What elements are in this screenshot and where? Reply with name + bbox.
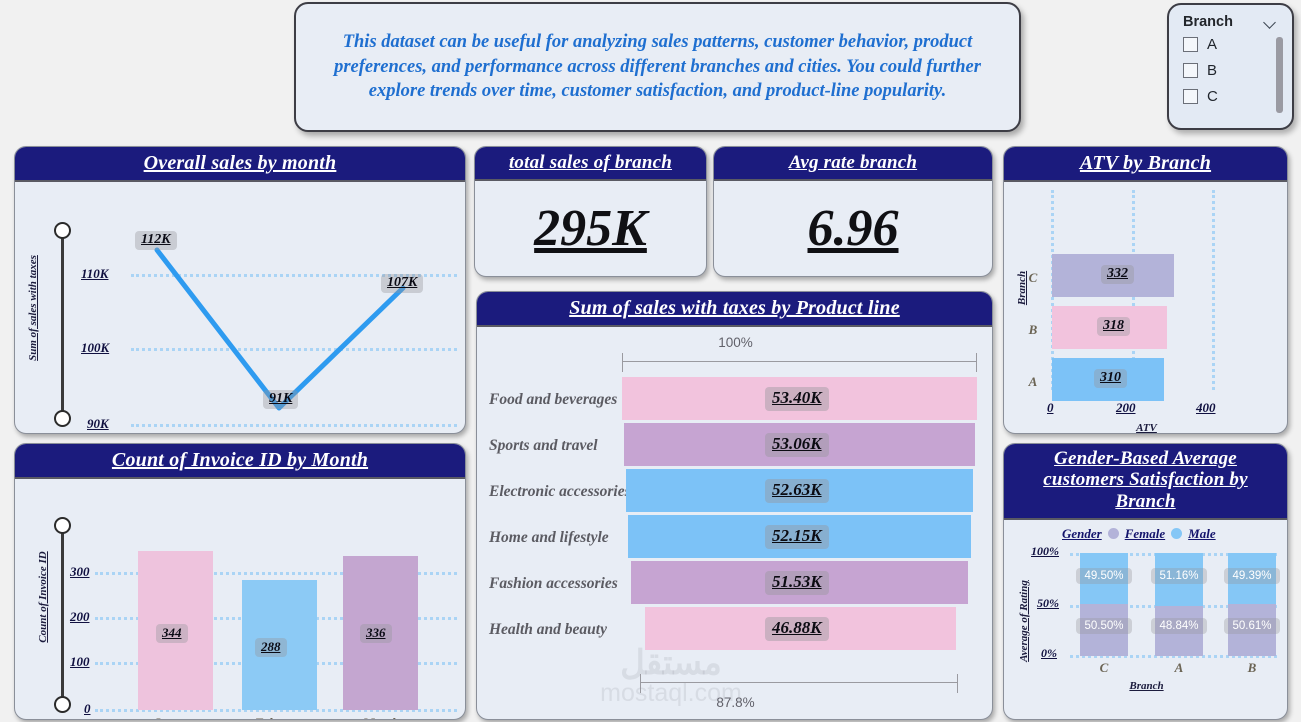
y-tick-0: 0% [1041, 646, 1057, 661]
gender-label-c-male: 49.50% [1076, 568, 1132, 584]
card-title: total sales of branch [475, 147, 706, 181]
vgridline [1212, 190, 1215, 390]
x-tick-march: March [321, 715, 441, 720]
y-tick-0: 0 [84, 701, 91, 717]
product-line-value-home: 52.15K [765, 525, 829, 549]
data-label-c: 332 [1101, 265, 1134, 284]
product-line-label-electronic: Electronic accessories [489, 483, 631, 501]
branch-option-label: A [1207, 36, 1217, 53]
x-axis-title: Branch [1004, 680, 1288, 692]
gender-legend: Gender Female Male [1062, 526, 1216, 542]
branch-slicer[interactable]: Branch A B C [1167, 3, 1294, 130]
y-tick-100: 100 [70, 654, 90, 670]
data-label-b: 318 [1097, 317, 1130, 336]
x-tick-february: February [220, 432, 340, 434]
x-tick-400: 400 [1196, 400, 1216, 416]
y-tick-200: 200 [70, 609, 90, 625]
x-tick-a: A [1159, 660, 1199, 676]
y-axis-title: Branch [1016, 258, 1028, 318]
data-label-january: 344 [156, 624, 188, 643]
branch-option-a[interactable]: A [1183, 36, 1282, 53]
description-banner-text: This dataset can be useful for analyzing… [314, 30, 1001, 104]
data-label-a: 310 [1094, 369, 1127, 388]
dashboard-root: This dataset can be useful for analyzing… [0, 0, 1301, 722]
checkbox-icon[interactable] [1183, 37, 1198, 52]
top-bracket [622, 361, 977, 362]
branch-slicer-header: Branch [1183, 14, 1282, 30]
x-axis-title: ATV [1004, 422, 1288, 434]
branch-slicer-title: Branch [1183, 14, 1233, 30]
legend-label-male[interactable]: Male [1188, 526, 1215, 542]
overall-sales-chart: Sum of sales with taxes 110K 100K 90K 11… [15, 182, 465, 432]
product-line-value-health: 46.88K [765, 617, 829, 641]
slider-track[interactable] [61, 525, 64, 705]
card-atv-by-branch: ATV by Branch Branch C B A 332 318 310 0… [1003, 146, 1288, 434]
data-label-february: 288 [255, 638, 287, 657]
x-tick-c: C [1084, 660, 1124, 676]
y-tick-50: 50% [1037, 596, 1059, 611]
y-tick-a: A [1022, 374, 1044, 390]
data-label-january: 112K [135, 231, 177, 250]
atv-chart: Branch C B A 332 318 310 0 200 400 ATV [1004, 182, 1287, 432]
product-line-label-fashion: Fashion accessories [489, 575, 618, 593]
bottom-bracket-label: 87.8% [477, 695, 993, 710]
checkbox-icon[interactable] [1183, 63, 1198, 78]
branch-option-label: C [1207, 88, 1218, 105]
bottom-bracket [640, 682, 958, 683]
branch-option-label: B [1207, 62, 1217, 79]
gender-label-b-female: 50.61% [1224, 618, 1280, 634]
gender-label-a-male: 51.16% [1151, 568, 1207, 584]
card-total-sales-of-branch: total sales of branch 295K [474, 146, 707, 277]
legend-swatch-female [1108, 528, 1119, 539]
chevron-down-icon[interactable] [1264, 18, 1278, 27]
x-tick-0: 0 [1047, 400, 1054, 416]
card-avg-rate-branch: Avg rate branch 6.96 [713, 146, 993, 277]
card-title: Avg rate branch [714, 147, 992, 181]
gender-label-c-female: 50.50% [1076, 618, 1132, 634]
sales-line-series [15, 182, 466, 432]
x-tick-200: 200 [1116, 400, 1136, 416]
product-line-label-home: Home and lifestyle [489, 529, 609, 547]
card-count-of-invoice-id-by-month: Count of Invoice ID by Month Count of In… [14, 443, 466, 720]
card-title: ATV by Branch [1004, 147, 1287, 182]
branch-option-b[interactable]: B [1183, 62, 1282, 79]
y-tick-c: C [1022, 270, 1044, 286]
avg-rate-value-wrap: 6.96 [714, 181, 992, 275]
card-overall-sales-by-month: Overall sales by month Sum of sales with… [14, 146, 466, 434]
card-title: Gender-Based Average customers Satisfact… [1004, 444, 1287, 520]
data-label-march: 336 [360, 624, 392, 643]
gender-label-b-male: 49.39% [1224, 568, 1280, 584]
x-tick-b: B [1232, 660, 1272, 676]
x-tick-january: January [111, 432, 231, 434]
product-line-label-health: Health and beauty [489, 621, 607, 639]
card-title: Sum of sales with taxes by Product line [477, 292, 992, 327]
slider-handle-bottom[interactable] [54, 696, 71, 713]
total-sales-value: 295K [534, 199, 647, 258]
card-title: Count of Invoice ID by Month [15, 444, 465, 479]
card-title: Overall sales by month [15, 147, 465, 182]
product-line-value-electronic: 52.63K [765, 479, 829, 503]
slicer-scrollbar[interactable] [1276, 37, 1283, 113]
gender-chart: Gender Female Male Average of Rating 100… [1004, 520, 1287, 696]
checkbox-icon[interactable] [1183, 89, 1198, 104]
product-line-label-food: Food and beverages [489, 391, 617, 409]
product-line-value-sports: 53.06K [765, 433, 829, 457]
y-tick-100: 100% [1031, 544, 1059, 559]
product-line-chart: 100% Food and beverages 53.40K Sports an… [477, 327, 992, 720]
slider-handle-top[interactable] [54, 517, 71, 534]
card-gender-based-satisfaction: Gender-Based Average customers Satisfact… [1003, 443, 1288, 720]
description-banner: This dataset can be useful for analyzing… [294, 2, 1021, 132]
invoice-count-chart: Count of Invoice ID 300 200 100 0 344 28… [15, 479, 465, 720]
legend-swatch-male [1171, 528, 1182, 539]
avg-rate-value: 6.96 [808, 199, 899, 258]
top-bracket-label: 100% [477, 335, 993, 350]
data-label-february: 91K [263, 390, 298, 409]
product-line-value-fashion: 51.53K [765, 571, 829, 595]
x-tick-january: January [116, 715, 236, 720]
product-line-label-sports: Sports and travel [489, 437, 598, 455]
card-sum-of-sales-by-product-line: Sum of sales with taxes by Product line … [476, 291, 993, 720]
gender-label-a-female: 48.84% [1151, 618, 1207, 634]
x-tick-march: March [345, 432, 465, 434]
product-line-value-food: 53.40K [765, 387, 829, 411]
legend-title: Gender [1062, 526, 1102, 542]
y-tick-300: 300 [70, 564, 90, 580]
y-axis-title: Average of Rating [1018, 566, 1030, 676]
branch-option-c[interactable]: C [1183, 88, 1282, 105]
y-axis-title: Count of Invoice ID [37, 542, 49, 652]
y-tick-b: B [1022, 322, 1044, 338]
legend-label-female[interactable]: Female [1125, 526, 1165, 542]
data-label-march: 107K [381, 274, 423, 293]
total-sales-value-wrap: 295K [475, 181, 706, 275]
